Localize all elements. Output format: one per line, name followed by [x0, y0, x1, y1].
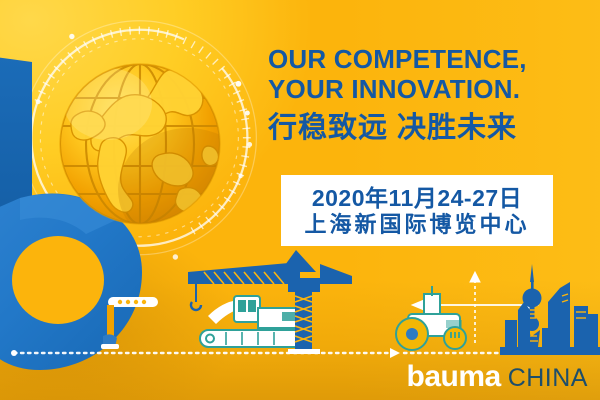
event-date: 2020年11月24-27日	[312, 185, 522, 211]
logo-china-wordmark: CHINA	[508, 362, 588, 394]
machinery-scene	[0, 250, 600, 362]
logo-bauma-wordmark: bauma	[407, 361, 501, 393]
dotted-ground-line	[11, 348, 500, 358]
road-roller-icon	[396, 286, 466, 350]
shanghai-skyline	[500, 264, 600, 355]
golden-globe	[22, 18, 252, 258]
excavator-icon	[200, 296, 310, 347]
headline-line-2: YOUR INNOVATION.	[268, 74, 590, 104]
arrow-right-icon	[390, 348, 400, 358]
poster-canvas: OUR COMPETENCE, YOUR INNOVATION. 行稳致远 决胜…	[0, 0, 600, 400]
headline-line-1: OUR COMPETENCE,	[268, 44, 590, 74]
bauma-china-logo: bauma CHINA	[407, 361, 589, 394]
headline-block: OUR COMPETENCE, YOUR INNOVATION. 行稳致远 决胜…	[268, 44, 590, 145]
headline-chinese: 行稳致远 决胜未来	[268, 111, 590, 145]
event-venue: 上海新国际博览中心	[304, 212, 529, 237]
event-date-box: 2020年11月24-27日 上海新国际博览中心	[281, 175, 553, 246]
drill-rig-icon	[101, 297, 158, 349]
